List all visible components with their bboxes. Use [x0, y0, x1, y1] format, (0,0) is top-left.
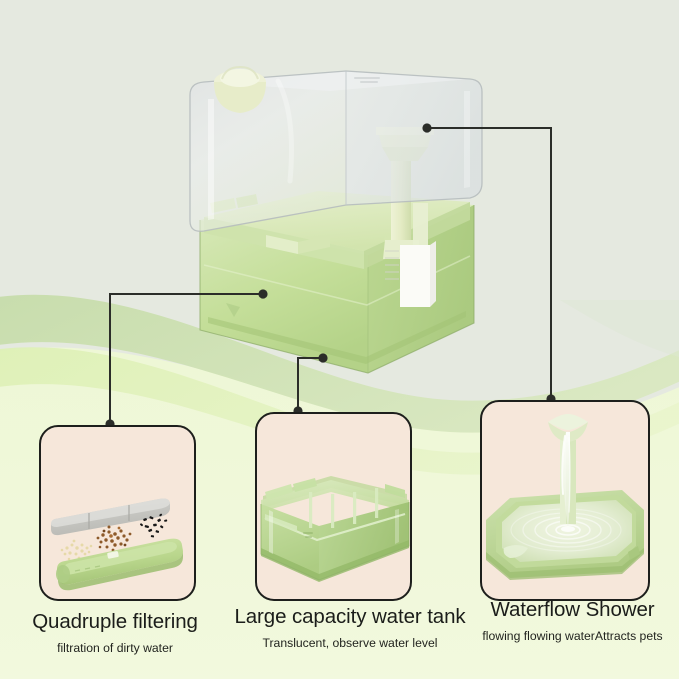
- feature-panel-large-capacity-water-tank[interactable]: [255, 412, 412, 601]
- pet-water-fountain-illustration: [178, 55, 508, 385]
- tank-closeup-body: [261, 476, 409, 582]
- media-brown-granules: [97, 526, 132, 552]
- fountain-spout-with-ripples: [482, 402, 648, 599]
- caption-quadruple-filtering: Quadruple filtering filtration of dirty …: [0, 612, 230, 654]
- filter-mesh-lid: [51, 499, 170, 536]
- product-hero-image: [178, 55, 508, 385]
- translucent-green-tank-closeup: [257, 414, 410, 599]
- swoosh-right-highlight: [560, 300, 679, 362]
- feature-title: Large capacity water tank: [222, 607, 478, 628]
- feature-panel-waterflow-shower[interactable]: [480, 400, 650, 601]
- caption-waterflow-shower: Waterflow Shower flowing flowing waterAt…: [466, 600, 679, 642]
- feature-subtitle: Translucent, observe water level: [222, 637, 478, 649]
- feature-panel-quadruple-filtering[interactable]: [39, 425, 196, 601]
- feature-title: Quadruple filtering: [0, 612, 230, 633]
- filter-cartridge-with-media: [41, 427, 194, 599]
- infographic-canvas: Quadruple filtering filtration of dirty …: [0, 0, 679, 679]
- feature-subtitle: filtration of dirty water: [0, 642, 230, 654]
- feature-title: Waterflow Shower: [466, 600, 679, 621]
- feature-subtitle: flowing flowing waterAttracts pets: [466, 630, 679, 642]
- filter-tray-body: [56, 539, 183, 591]
- caption-large-capacity-water-tank: Large capacity water tank Translucent, o…: [222, 607, 478, 649]
